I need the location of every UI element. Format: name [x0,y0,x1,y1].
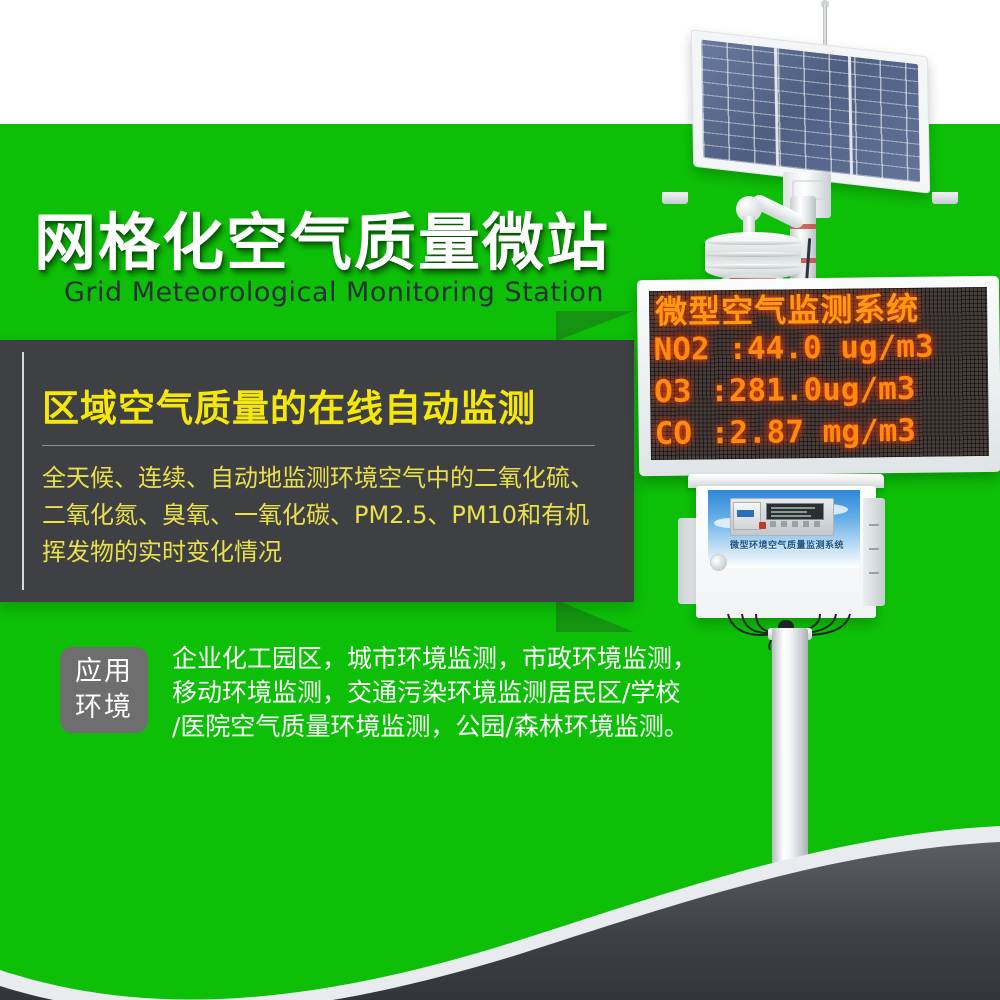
info-body-line-1: 全天候、连续、自动地监测环境空气中的二氧化硫、 [42,460,622,497]
shield-plate-1 [705,240,801,245]
solar-panel [691,29,930,193]
led-display-panel: 微型空气监测系统 NO2 :44.0 ug/m3 O3 :281.0ug/m3 … [637,276,1000,476]
page-subtitle-en: Grid Meteorological Monitoring Station [64,277,604,308]
cabinet-side-panel [863,498,885,606]
application-badge: 应用 环境 [60,647,148,733]
cabinet-label: 微型环境空气质量监测系统 [712,538,862,551]
info-body-line-3: 挥发物的实时变化情况 [42,534,622,571]
cabinet-indicator-light [759,522,766,529]
application-badge-line-2: 环境 [75,690,133,726]
led-screen: 微型空气监测系统 NO2 :44.0 ug/m3 O3 :281.0ug/m3 … [649,287,989,460]
info-panel-title: 区域空气质量的在线自动监测 [42,378,536,432]
antenna-icon [823,4,827,50]
cabinet-side-mark-1 [869,524,879,526]
application-badge-line-1: 应用 [75,654,133,690]
bottom-wave-decoration [0,820,1000,1000]
lcd-line-2 [771,511,807,513]
cabinet-vent-icon [710,554,727,571]
led-foot-right [932,192,958,204]
poster-canvas: 网格化空气质量微站 Grid Meteorological Monitoring… [0,0,1000,1000]
cabinet-button-row [770,521,820,527]
led-row-co: CO :2.87 mg/m3 [654,413,986,451]
monitoring-station-device: 微型空气监测系统 NO2 :44.0 ug/m3 O3 :281.0ug/m3 … [620,0,1000,900]
led-row-no2: NO2 :44.0 ug/m3 [653,329,985,367]
page-title: 网格化空气质量微站 [34,192,610,282]
lcd-line-1 [771,507,815,509]
cabinet-lcd-screen [766,503,824,520]
solar-cells [701,39,920,182]
cabinet-left-ear [678,518,698,604]
cabinet-side-mark-2 [869,548,879,550]
lcd-line-3 [771,515,811,517]
panel-divider [42,445,595,446]
led-foot-left [662,192,688,204]
cabinet-side-mark-3 [869,572,879,574]
led-title: 微型空气监测系统 [655,290,985,330]
led-row-o3: O3 :281.0ug/m3 [654,371,986,409]
shield-plate-2 [705,252,801,257]
info-panel-body: 全天候、连续、自动地监测环境空气中的二氧化硫、 二氧化氮、臭氧、一氧化碳、PM2… [42,460,622,571]
cabinet-breaker-switch [737,510,754,517]
panel-accent-line [22,352,24,590]
info-body-line-2: 二氧化氮、臭氧、一氧化碳、PM2.5、PM10和有机 [42,497,622,534]
shield-plate-3 [705,264,801,269]
